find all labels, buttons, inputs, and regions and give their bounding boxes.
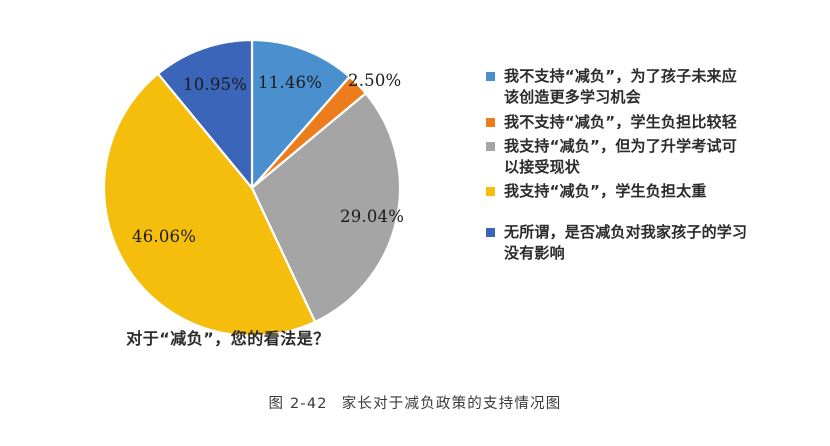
legend-item-label: 无所谓，是否减负对我家孩子的学习没有影响 [504, 222, 749, 265]
legend-color-swatch [486, 142, 495, 151]
caption-number: 图 2-42 [268, 396, 327, 412]
figure-container: 11.46%2.50%29.04%46.06%10.95% 对于“减负”，您的看… [0, 0, 830, 446]
legend-color-swatch [486, 72, 495, 81]
legend-item-label: 我不支持“减负”，学生负担比较轻 [504, 112, 737, 133]
legend-color-swatch [486, 118, 495, 127]
legend-color-swatch [486, 187, 495, 196]
legend-item[interactable]: 我不支持“减负”，学生负担比较轻 [486, 112, 756, 133]
pie-slice-value-label: 10.95% [183, 75, 247, 94]
legend-item-label: 我支持“减负”，但为了升学考试可以接受现状 [504, 136, 749, 179]
legend-item[interactable]: 我不支持“减负”，为了孩子未来应该创造更多学习机会 [486, 66, 756, 109]
pie-slice-value-label: 29.04% [340, 207, 404, 226]
legend-color-swatch [486, 228, 495, 237]
chart-legend: 我不支持“减负”，为了孩子未来应该创造更多学习机会我不支持“减负”，学生负担比较… [486, 66, 756, 267]
caption-text: 家长对于减负政策的支持情况图 [342, 396, 562, 412]
chart-title: 对于“减负”，您的看法是？ [58, 325, 398, 349]
legend-item-label: 我支持“减负”，学生负担太重 [504, 181, 707, 202]
legend-item-label: 我不支持“减负”，为了孩子未来应该创造更多学习机会 [504, 66, 749, 109]
figure-caption: 图 2-42家长对于减负政策的支持情况图 [0, 392, 830, 413]
pie-slice-value-label: 2.50% [348, 71, 401, 90]
pie-slice-value-label: 46.06% [132, 227, 196, 246]
legend-item[interactable]: 无所谓，是否减负对我家孩子的学习没有影响 [486, 222, 756, 265]
pie-chart: 11.46%2.50%29.04%46.06%10.95% [70, 35, 450, 335]
legend-item[interactable]: 我支持“减负”，学生负担太重 [486, 181, 756, 202]
legend-item[interactable]: 我支持“减负”，但为了升学考试可以接受现状 [486, 136, 756, 179]
pie-slice-value-label: 11.46% [258, 73, 322, 92]
